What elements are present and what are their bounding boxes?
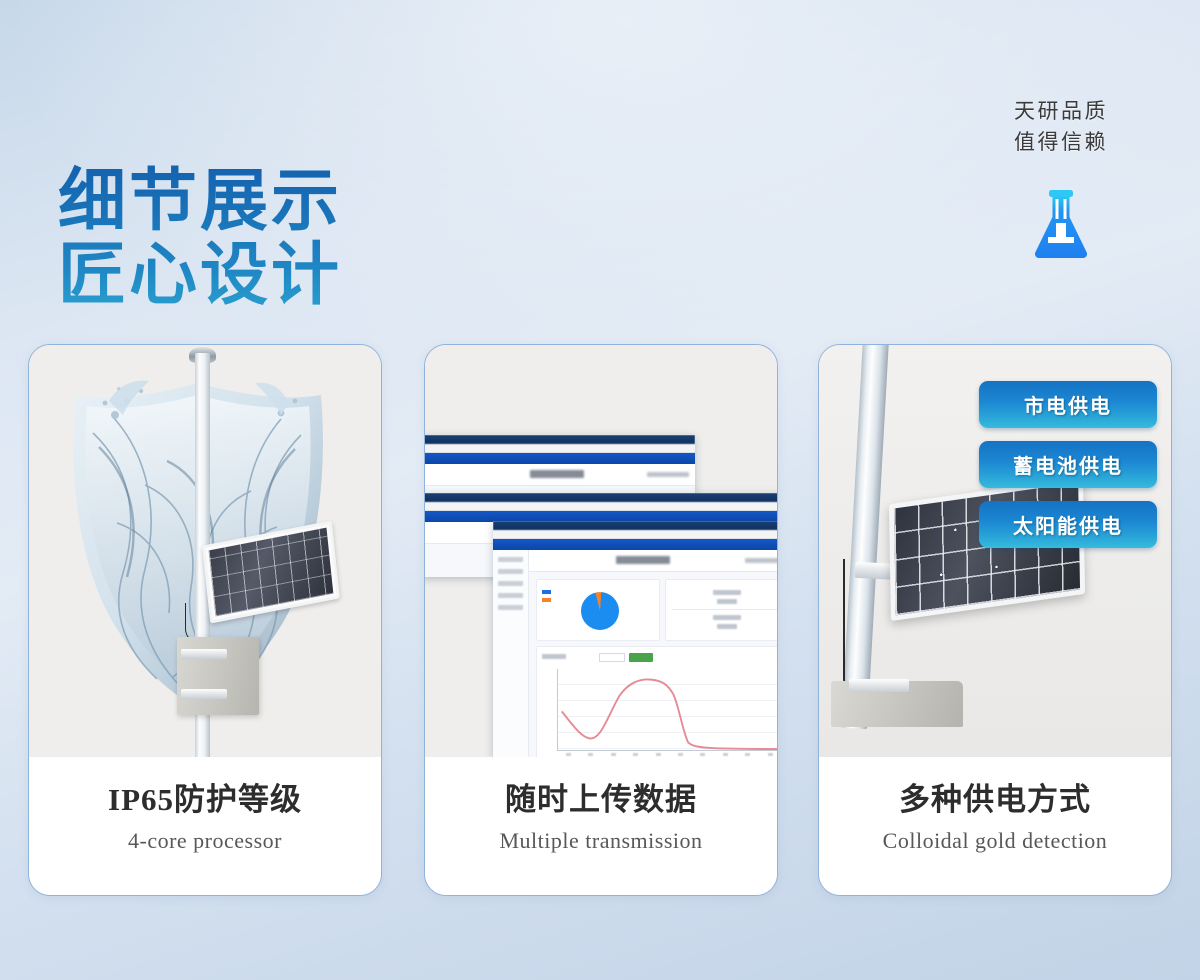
pole-base-clamp (849, 679, 909, 692)
app-navbar (425, 453, 695, 464)
sidebar-item[interactable] (498, 605, 523, 610)
browser-window-front (493, 521, 777, 759)
card-1-caption: IP65防护等级 4-core processor (29, 757, 381, 895)
page-title: 细节展示 匠心设计 (58, 92, 342, 386)
line-series (558, 669, 777, 750)
feature-card-ip65[interactable]: IP65防护等级 4-core processor (28, 344, 382, 896)
pie-chart (581, 592, 619, 630)
dashboard-title-placeholder (530, 470, 584, 478)
legend-swatch-orange (542, 598, 551, 602)
browser-tabbar (425, 493, 777, 502)
page-title-line-2: 匠心设计 (58, 239, 342, 312)
card-3-photo: 市电供电 蓄电池供电 太阳能供电 (819, 345, 1171, 759)
sidebar-item[interactable] (498, 569, 523, 574)
stat-value (713, 590, 741, 595)
feature-card-data-upload[interactable]: 随时上传数据 Multiple transmission (424, 344, 778, 896)
badge-mains-power[interactable]: 市电供电 (979, 381, 1157, 428)
flask-icon (1028, 190, 1094, 262)
line-chart-panel (536, 646, 777, 759)
dashboard-date-placeholder (745, 558, 777, 563)
line-chart-plot (557, 669, 777, 751)
flask-icon-wrapper (966, 190, 1156, 262)
browser-tabbar (425, 435, 695, 444)
sidebar-item[interactable] (498, 557, 523, 562)
app-navbar (493, 539, 777, 550)
stats-panel (665, 579, 777, 641)
card-3-title: 多种供电方式 (819, 781, 1171, 818)
browser-window-back (425, 435, 695, 499)
query-button[interactable] (629, 653, 653, 662)
dashboard-title-placeholder (616, 556, 670, 564)
card-2-title: 随时上传数据 (425, 781, 777, 818)
card-1-photo (29, 345, 381, 759)
brand-slogan-block: 天研品质 值得信赖 (966, 96, 1156, 262)
chart-panel-label (542, 654, 566, 659)
card-2-caption: 随时上传数据 Multiple transmission (425, 757, 777, 895)
browser-content (493, 550, 777, 757)
pole-clamp-upper (181, 649, 227, 659)
cable (843, 559, 869, 689)
divider (672, 609, 777, 610)
card-3-subtitle: Colloidal gold detection (819, 828, 1171, 854)
browser-tabbar (493, 521, 777, 530)
feature-card-power-options[interactable]: 市电供电 蓄电池供电 太阳能供电 多种供电方式 Colloidal gold d… (818, 344, 1172, 896)
card-1-title: IP65防护等级 (29, 781, 381, 818)
pie-chart-panel (536, 579, 660, 641)
card-2-photo (425, 345, 777, 759)
stat-label (717, 624, 737, 629)
dashboard-header (425, 464, 695, 486)
card-2-subtitle: Multiple transmission (425, 828, 777, 854)
date-input[interactable] (599, 653, 625, 662)
stat-value (713, 615, 741, 620)
brand-slogan-line-1: 天研品质 (966, 96, 1156, 127)
legend-swatch-blue (542, 590, 551, 594)
dashboard-panels (531, 574, 777, 757)
stat-label (717, 599, 737, 604)
solar-cells (209, 528, 334, 617)
sidebar-item[interactable] (498, 581, 523, 586)
dashboard-date-placeholder (647, 472, 689, 477)
browser-urlbar (425, 502, 777, 511)
dashboard-top-row (536, 579, 777, 641)
page-title-line-1: 细节展示 (58, 163, 342, 239)
feature-cards-row: IP65防护等级 4-core processor (0, 344, 1200, 900)
card-1-subtitle: 4-core processor (29, 828, 381, 854)
pie-legend (542, 590, 551, 606)
badge-battery-power[interactable]: 蓄电池供电 (979, 441, 1157, 488)
browser-urlbar (493, 530, 777, 539)
power-option-badges: 市电供电 蓄电池供电 太阳能供电 (979, 381, 1157, 548)
dashboard-sidebar[interactable] (493, 550, 529, 757)
brand-slogan-line-2: 值得信赖 (966, 127, 1156, 158)
card-3-caption: 多种供电方式 Colloidal gold detection (819, 757, 1171, 895)
dashboard-header (493, 550, 777, 572)
browser-urlbar (425, 444, 695, 453)
page-header: 细节展示 匠心设计 天研品质 值得信赖 (0, 0, 1200, 330)
badge-solar-power[interactable]: 太阳能供电 (979, 501, 1157, 548)
pole-clamp-lower (181, 689, 227, 699)
sidebar-item[interactable] (498, 593, 523, 598)
